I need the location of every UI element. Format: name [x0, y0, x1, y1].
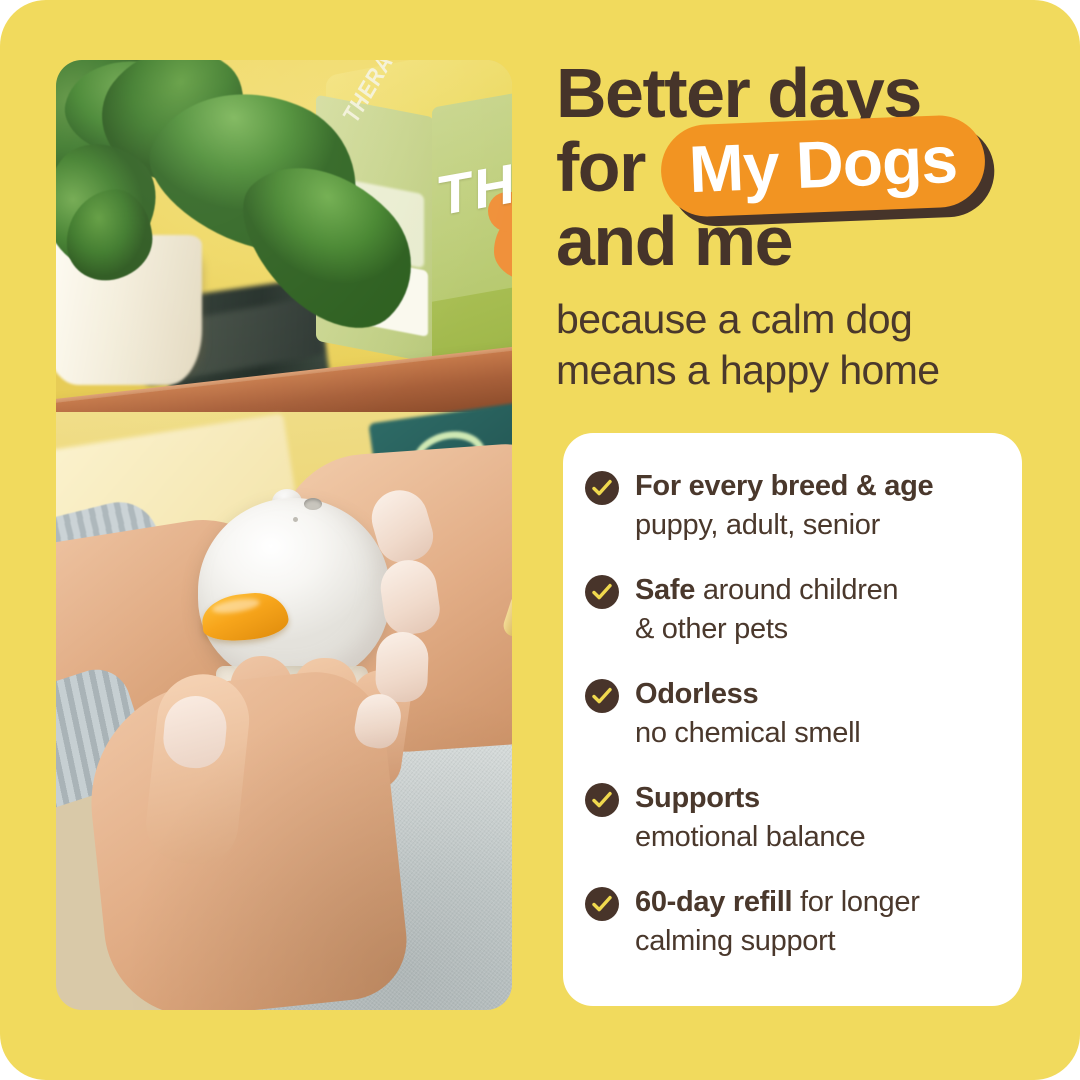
headline-line-3: and me: [556, 204, 1036, 278]
headline-line-2-prefix: for: [556, 128, 645, 206]
list-item: Odorless no chemical smell: [585, 675, 992, 753]
check-icon: [585, 887, 619, 921]
list-item-rest: around children: [695, 574, 898, 606]
list-item-strong: For every breed & age: [635, 470, 933, 502]
feature-list: For every breed & age puppy, adult, seni…: [585, 467, 992, 961]
feature-card: For every breed & age puppy, adult, seni…: [563, 433, 1022, 1006]
check-icon: [585, 471, 619, 505]
headline-badge-my-dogs: My Dogs: [659, 114, 986, 218]
list-item-text: Safe around children & other pets: [635, 571, 898, 649]
list-item-secondary: calming support: [635, 922, 920, 961]
list-item-text: For every breed & age puppy, adult, seni…: [635, 467, 933, 545]
list-item: For every breed & age puppy, adult, seni…: [585, 467, 992, 545]
list-item-strong: Odorless: [635, 678, 758, 710]
subheadline-line-2: means a happy home: [556, 345, 1036, 396]
product-vent-hole: [304, 498, 322, 510]
list-item: 60-day refill for longer calming support: [585, 883, 992, 961]
list-item-text: Odorless no chemical smell: [635, 675, 860, 753]
promo-creative: THERA THERAPET: [0, 0, 1080, 1080]
check-icon: [585, 679, 619, 713]
list-item-secondary: puppy, adult, senior: [635, 506, 933, 545]
product-lifestyle-photo: THERA THERAPET: [56, 60, 512, 1010]
product-diffuser-dome: [198, 498, 390, 684]
subheadline-line-1: because a calm dog: [556, 294, 1036, 345]
list-item-secondary: emotional balance: [635, 818, 865, 857]
list-item-secondary: & other pets: [635, 610, 898, 649]
headline-block: Better days for My Dogs and me because a…: [556, 56, 1036, 396]
list-item-strong: Safe: [635, 574, 695, 606]
product-vent-pinhole: [293, 517, 298, 522]
list-item-text: Supports emotional balance: [635, 779, 865, 857]
list-item-strong: Supports: [635, 782, 760, 814]
list-item-secondary: no chemical smell: [635, 714, 860, 753]
headline-line-1: Better days: [556, 56, 1036, 130]
check-icon: [585, 783, 619, 817]
photo-fingernail: [375, 631, 429, 703]
check-icon: [585, 575, 619, 609]
subheadline: because a calm dog means a happy home: [556, 294, 1036, 396]
list-item: Safe around children & other pets: [585, 571, 992, 649]
list-item: Supports emotional balance: [585, 779, 992, 857]
list-item-text: 60-day refill for longer calming support: [635, 883, 920, 961]
headline-line-2: for My Dogs: [556, 130, 1036, 204]
list-item-strong: 60-day refill: [635, 886, 792, 918]
page-title: Better days for My Dogs and me: [556, 56, 1036, 278]
list-item-rest: for longer: [792, 886, 919, 918]
